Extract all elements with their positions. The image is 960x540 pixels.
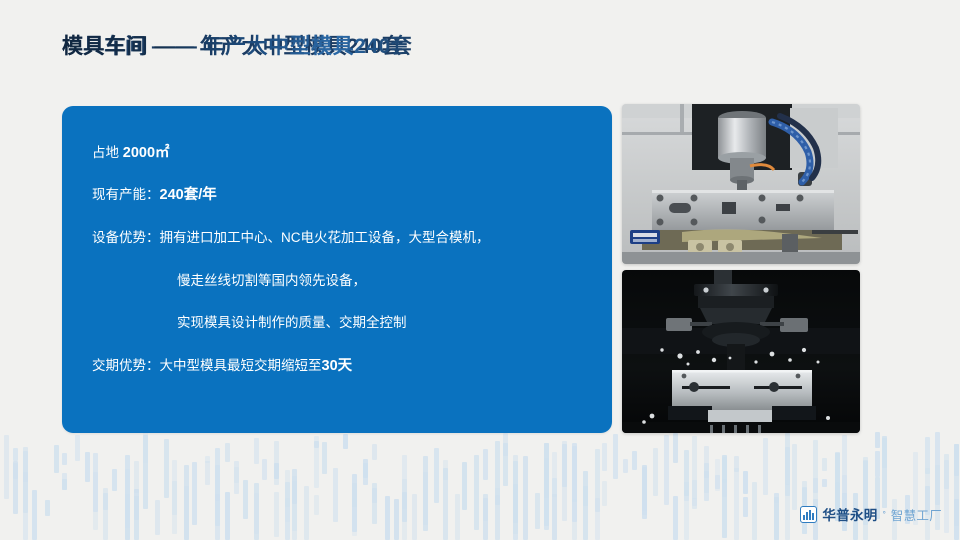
decorative-stripe bbox=[125, 455, 130, 528]
panel-line-equipment-1-text: 设备优势：拥有进口加工中心、NC电火花加工设备，大型合模机， bbox=[92, 230, 490, 245]
decorative-stripe bbox=[774, 497, 779, 540]
decorative-stripe bbox=[495, 495, 500, 540]
decorative-stripe bbox=[664, 435, 669, 505]
decorative-stripe bbox=[785, 447, 790, 496]
decorative-stripe bbox=[572, 443, 577, 522]
decorative-stripe bbox=[192, 462, 197, 525]
decorative-stripe bbox=[684, 450, 689, 496]
decorative-stripe bbox=[112, 469, 117, 491]
decorative-stripe bbox=[314, 495, 319, 515]
edm-photo-art bbox=[622, 270, 860, 433]
decorative-stripe bbox=[734, 456, 739, 472]
decorative-stripe bbox=[562, 444, 567, 487]
brand-name: 华普永明 bbox=[822, 504, 877, 524]
brand-tagline: 智慧工厂 bbox=[891, 505, 942, 524]
decorative-stripe bbox=[32, 490, 37, 540]
decorative-stripe bbox=[483, 449, 488, 480]
decorative-stripe bbox=[343, 434, 348, 449]
decorative-stripe bbox=[304, 486, 309, 540]
edm-machine-photo bbox=[622, 270, 860, 433]
decorative-stripe bbox=[673, 433, 678, 463]
decorative-stripe bbox=[274, 463, 279, 479]
decorative-stripe bbox=[632, 451, 637, 470]
decorative-stripe bbox=[455, 494, 460, 540]
decorative-stripe bbox=[613, 434, 618, 479]
decorative-stripe bbox=[23, 472, 28, 540]
decorative-stripe bbox=[274, 492, 279, 537]
decorative-stripe bbox=[443, 460, 448, 480]
brand-superscript: ° bbox=[883, 510, 886, 519]
decorative-stripe bbox=[363, 463, 368, 485]
decorative-stripe bbox=[925, 437, 930, 474]
decorative-stripe bbox=[792, 444, 797, 510]
panel-line-leadtime: 交期优势：大中型模具最短交期缩短至30天 bbox=[92, 359, 352, 374]
decorative-stripe bbox=[483, 498, 488, 540]
panel-line-leadtime-value: 30天 bbox=[322, 358, 353, 374]
decorative-stripe bbox=[103, 488, 108, 540]
panel-line-equipment-2: 慢走丝线切割等国内领先设备， bbox=[177, 274, 366, 288]
decorative-stripe bbox=[743, 497, 748, 517]
panel-line-capacity: 现有产能：240套/年 bbox=[92, 188, 217, 203]
decorative-stripe bbox=[225, 492, 230, 540]
decorative-stripe bbox=[954, 444, 959, 526]
decorative-stripe bbox=[243, 480, 248, 519]
decorative-stripe bbox=[722, 457, 727, 483]
bar-chart-logo-icon bbox=[800, 506, 817, 523]
decorative-stripe bbox=[704, 446, 709, 493]
decorative-stripe bbox=[642, 501, 647, 519]
decorative-stripe bbox=[595, 498, 600, 540]
decorative-stripe bbox=[743, 471, 748, 494]
decorative-stripe bbox=[715, 475, 720, 489]
decorative-stripe bbox=[62, 479, 67, 490]
decorative-stripe bbox=[523, 456, 528, 540]
panel-line-equipment-2-text: 慢走丝线切割等国内领先设备， bbox=[177, 273, 366, 288]
decorative-stripe bbox=[752, 482, 757, 540]
decorative-stripe bbox=[544, 458, 549, 530]
decorative-stripe bbox=[62, 453, 67, 465]
slide-root: 模具车间 —— 年产大中型模具240套 模具车间 —— 年产大中型模具240套 … bbox=[0, 0, 960, 540]
decorative-stripe bbox=[875, 432, 880, 448]
decorative-stripe bbox=[385, 496, 390, 540]
decorative-stripe bbox=[54, 445, 59, 473]
decorative-stripe bbox=[503, 443, 508, 486]
decorative-stripe bbox=[875, 451, 880, 477]
decorative-stripe bbox=[412, 494, 417, 540]
decorative-stripe bbox=[402, 455, 407, 509]
decorative-stripe bbox=[292, 481, 297, 531]
decorative-stripe bbox=[13, 461, 18, 514]
decorative-stripe bbox=[75, 435, 80, 461]
decorative-stripe bbox=[863, 460, 868, 540]
panel-line-capacity-value: 240套/年 bbox=[160, 187, 217, 203]
info-panel: 占地 2000㎡ 现有产能：240套/年 设备优势：拥有进口加工中心、NC电火花… bbox=[62, 106, 612, 433]
decorative-stripe bbox=[673, 496, 678, 540]
decorative-stripe bbox=[704, 471, 709, 478]
decorative-stripe bbox=[13, 448, 18, 461]
panel-line-equipment-1: 设备优势：拥有进口加工中心、NC电火花加工设备，大型合模机， bbox=[92, 231, 490, 245]
decorative-stripe bbox=[822, 458, 827, 471]
decorative-stripe bbox=[215, 465, 220, 501]
decorative-stripe bbox=[692, 498, 697, 509]
decorative-stripe bbox=[602, 443, 607, 471]
panel-line-leadtime-label: 交期优势：大中型模具最短交期缩短至 bbox=[92, 358, 322, 373]
cnc-photo-art bbox=[622, 104, 860, 264]
decorative-stripe bbox=[4, 435, 9, 499]
panel-line-equipment-3-text: 实现模具设计制作的质量、交期全控制 bbox=[177, 315, 407, 330]
decorative-stripe bbox=[372, 483, 377, 503]
decorative-stripe bbox=[822, 479, 827, 487]
decorative-stripe bbox=[225, 443, 230, 462]
decorative-stripe bbox=[254, 438, 259, 464]
decorative-stripe bbox=[623, 459, 628, 473]
decorative-stripe bbox=[882, 436, 887, 508]
decorative-stripe bbox=[423, 456, 428, 531]
decorative-stripe bbox=[734, 468, 739, 540]
decorative-stripe bbox=[234, 467, 239, 483]
decorative-stripe bbox=[394, 499, 399, 540]
decorative-stripe bbox=[205, 461, 210, 485]
decorative-stripe bbox=[93, 453, 98, 512]
decorative-stripe bbox=[172, 481, 177, 534]
decorative-stripe bbox=[602, 481, 607, 506]
decorative-stripe bbox=[944, 460, 949, 533]
decorative-stripe bbox=[85, 452, 90, 482]
decorative-stripe bbox=[813, 478, 818, 493]
decorative-stripe bbox=[134, 461, 139, 493]
decorative-stripe bbox=[434, 448, 439, 503]
panel-line-equipment-3: 实现模具设计制作的质量、交期全控制 bbox=[177, 316, 407, 330]
panel-line-area-label: 占地 bbox=[92, 145, 123, 160]
decorative-stripe bbox=[513, 455, 518, 534]
decorative-stripe bbox=[474, 455, 479, 530]
decorative-stripe bbox=[462, 462, 467, 510]
page-title: 模具车间 —— 年产大中型模具240套 bbox=[62, 30, 412, 60]
decorative-stripe bbox=[164, 439, 169, 498]
cnc-machining-center-photo bbox=[622, 104, 860, 264]
panel-line-area: 占地 2000㎡ bbox=[92, 146, 170, 161]
decorative-stripe bbox=[322, 442, 327, 474]
panel-line-capacity-label: 现有产能： bbox=[92, 187, 160, 202]
decorative-stripe bbox=[763, 438, 768, 495]
decorative-stripe bbox=[143, 432, 148, 463]
decorative-stripe bbox=[184, 465, 189, 540]
decorative-stripe bbox=[583, 486, 588, 506]
panel-line-area-value: 2000㎡ bbox=[123, 145, 170, 161]
decorative-stripe bbox=[45, 500, 50, 516]
decorative-stripe bbox=[352, 483, 357, 507]
decorative-stripe bbox=[23, 447, 28, 482]
brand-logo: 华普永明 ° 智慧工厂 bbox=[800, 504, 942, 524]
decorative-stripe bbox=[372, 444, 377, 460]
decorative-stripe bbox=[262, 459, 267, 480]
decorative-stripe bbox=[333, 468, 338, 522]
decorative-stripe bbox=[155, 500, 160, 535]
decorative-stripe bbox=[285, 482, 290, 540]
decorative-stripe bbox=[535, 493, 540, 529]
decorative-stripe bbox=[254, 493, 259, 534]
decorative-stripe bbox=[774, 493, 779, 503]
decorative-stripe bbox=[552, 478, 557, 540]
decorative-stripe bbox=[134, 496, 139, 540]
decorative-stripe bbox=[653, 448, 658, 496]
decorative-stripe bbox=[314, 441, 319, 448]
